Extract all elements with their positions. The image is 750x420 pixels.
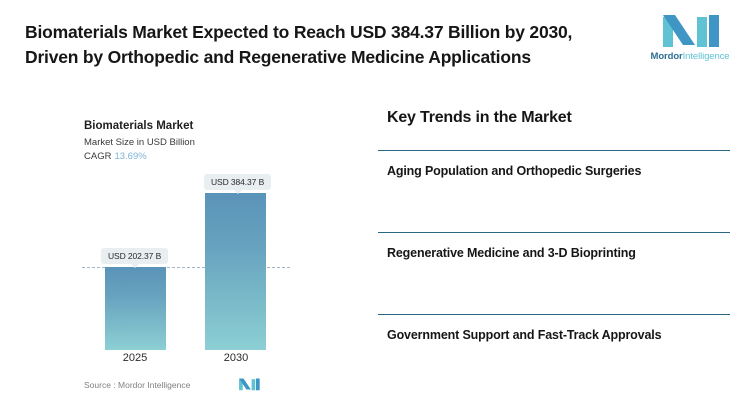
bar-2030[interactable] [205,193,266,350]
key-trends-panel: Key Trends in the Market Aging Populatio… [378,92,738,420]
trend-item[interactable]: Regenerative Medicine and 3-D Bioprintin… [378,232,730,263]
trends-heading: Key Trends in the Market [387,109,572,127]
trend-item[interactable]: Government Support and Fast-Track Approv… [378,314,730,345]
mordor-m-logo-icon [661,11,719,49]
x-axis-label-2030: 2030 [201,352,271,364]
trend-divider [378,150,730,151]
trend-label: Regenerative Medicine and 3-D Bioprintin… [387,245,717,263]
brand-word-primary: Mordor [651,51,683,62]
mordor-m-logo-icon [238,377,260,391]
chart-source-text: Source : Mordor Intelligence [84,380,190,390]
trend-divider [378,314,730,315]
brand-wordmark: MordorIntelligence [640,51,740,62]
x-axis-label-2025: 2025 [100,352,170,364]
page-header: Biomaterials Market Expected to Reach US… [0,0,750,92]
trend-label: Aging Population and Orthopedic Surgerie… [387,163,717,181]
bars-area [0,190,360,350]
bar-2025[interactable] [105,267,166,350]
bar-value-label-2025: USD 202.37 B [101,248,168,264]
trend-item[interactable]: Aging Population and Orthopedic Surgerie… [378,150,730,181]
brand-word-secondary: Intelligence [683,51,730,62]
chart-panel: Biomaterials Market Market Size in USD B… [0,92,360,420]
brand-logo: MordorIntelligence [640,11,740,71]
trend-divider [378,232,730,233]
bar-value-label-2030: USD 384.37 B [204,174,271,190]
trend-label: Government Support and Fast-Track Approv… [387,327,717,345]
page-title: Biomaterials Market Expected to Reach US… [25,20,625,70]
bar-chart-plot: USD 202.37 B USD 384.37 B 2025 2030 Sour… [0,92,360,392]
